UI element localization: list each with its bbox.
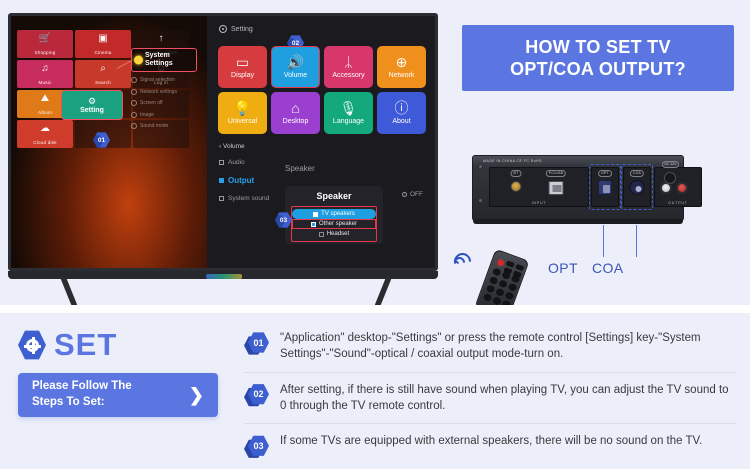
system-settings-title-line2: Settings [145,60,193,68]
antenna-port[interactable] [511,181,522,192]
page-title-line2: OPT/COA OUTPUT? [510,58,686,81]
step-row: 02 After setting, if there is still have… [244,373,736,425]
opt-port-highlight [589,164,621,210]
settings-card-label: Language [333,118,364,125]
app-tile-label: Cinema [75,50,131,58]
menu-item-signal-selection[interactable]: Signal selection [131,77,201,83]
film-icon: ▣ [98,34,107,44]
shopping-cart-icon: 🛒 [39,34,51,44]
tv-screen: 🛒 Shopping ▣ Cinema ↑ System update [11,16,435,268]
settings-card-about[interactable]: ⓘ About [377,92,426,134]
bottom-section: SET Please Follow The Steps To Set: ❯ 01… [0,313,750,469]
speaker-option-label: TV speakers [321,211,355,217]
menu-item-label: Screen off [140,100,163,106]
tv-settings-screen: Setting 02 ▭ Display 🔊 Volume [207,16,435,268]
settings-card-label: Volume [284,72,307,79]
breadcrumb-volume: ‹ Volume [219,143,245,150]
dc-power-label: DC 12V [662,161,679,168]
bluetooth-icon: ᛦ [344,55,352,69]
dc-power-port[interactable] [664,172,676,184]
coa-callout-line [636,225,637,257]
right-panel: HOW TO SET TV OPT/COA OUTPUT? MADE IN CH… [448,13,744,303]
speaker-option-label: Headset [327,231,349,237]
screw-icon [478,164,483,169]
setting-tile-highlight[interactable]: ⚙ Setting [61,90,123,120]
home-icon: ⌂ [291,101,299,115]
music-note-icon: ♫ [41,64,49,74]
app-tile-label: Music [17,80,73,88]
page-title-line1: HOW TO SET TV [525,36,671,59]
menu-item-label: Sound mode [140,123,168,129]
audio-icon [219,160,224,165]
speaker-option-label: Other speaker [319,221,357,227]
step-badge-02: 02 [244,384,270,408]
system-settings-menu: System Settings Signal selection [131,48,201,135]
steps-list: 01 "Application" desktop-"Settings" or p… [244,321,736,468]
settings-card-label: Display [231,72,254,79]
settings-card-language[interactable]: 🎙 Language [324,92,373,134]
side-item-system-sound[interactable]: System sound [219,195,269,202]
tv-leg-right [374,277,392,307]
step-text: After setting, if there is still have so… [280,382,736,415]
settings-card-label: Accessory [332,72,364,79]
settings-card-label: About [392,118,410,125]
monitor-icon: ▭ [236,55,249,69]
step-text: If some TVs are equipped with external s… [280,433,736,449]
speaker-option-tv-speakers[interactable]: TV speakers [292,209,376,219]
settings-card-volume[interactable]: 🔊 Volume [271,46,320,88]
tv-illustration: 🛒 Shopping ▣ Cinema ↑ System update [8,13,438,303]
side-item-audio[interactable]: Audio [219,159,269,166]
step-row: 01 "Application" desktop-"Settings" or p… [244,321,736,373]
speaker-section-label: Speaker [285,164,315,173]
menu-item-sound-mode[interactable]: Sound mode [131,123,201,129]
menu-item-label: Signal selection [140,77,175,83]
power-button-icon [496,258,505,267]
system-settings-highlight[interactable]: System Settings [131,48,197,72]
photo-icon: ⛰ [41,94,49,104]
coa-port-highlight [621,164,653,210]
system-settings-list: Signal selection Network settings Screen… [131,77,201,129]
follow-button-line2: Steps To Set: [32,395,132,411]
signal-icon [131,77,137,83]
side-item-label: System sound [228,195,269,202]
network-icon [131,89,137,95]
off-toggle-label: OFF [410,191,423,198]
opt-callout-line [603,225,604,257]
settings-card-grid: ▭ Display 🔊 Volume ᛦ Accessory ⊕ [218,46,426,134]
gear-icon [18,330,46,360]
app-tile-label: Search [75,80,131,88]
menu-item-label: Image [140,112,154,118]
app-tile-label: Shopping [17,50,73,58]
side-item-output[interactable]: Output [219,176,269,185]
settings-header-label: Setting [231,26,253,33]
top-section: 🛒 Shopping ▣ Cinema ↑ System update [0,0,750,305]
port-label-bt: BT [511,170,522,177]
follow-steps-button[interactable]: Please Follow The Steps To Set: ❯ [18,373,218,417]
system-settings-title-line1: System [145,52,193,60]
checkbox-icon [319,232,324,237]
speaker-options-group: TV speakers Other speaker Headset [291,206,377,242]
settings-card-accessory[interactable]: ᛦ Accessory [324,46,373,88]
app-tile-shopping[interactable]: 🛒 Shopping [17,30,73,58]
step-row: 03 If some TVs are equipped with externa… [244,424,736,468]
speaker-dialog-title: Speaker [285,191,383,201]
port-callout-labels: OPT COA [548,260,624,276]
rca-port-right[interactable] [676,182,688,194]
toggle-circle-icon [402,192,407,197]
settings-card-network[interactable]: ⊕ Network [377,46,426,88]
settings-card-label: Universal [228,118,257,125]
set-title-row: SET [18,327,240,363]
menu-item-label: Network settings [140,89,177,95]
speaker-option-headset[interactable]: Headset [292,229,376,239]
set-title: SET [54,327,117,363]
input-port-group: BT PC/USB INPUT [489,167,589,207]
step-badge-03: 03 [244,435,270,459]
step-text: "Application" desktop-"Settings" or pres… [280,330,736,363]
gear-icon [134,56,143,65]
mic-icon: 🎙 [340,101,358,115]
checkbox-icon [313,212,318,217]
device-base [473,219,683,224]
app-tile-label: Cloud disk [17,140,73,148]
output-group-label: OUTPUT [668,201,688,205]
output-icon [219,178,224,183]
settings-card-label: Network [389,72,415,79]
bulb-icon: 💡 [234,101,251,115]
app-tile-music[interactable]: ♫ Music [17,60,73,88]
audio-converter-device: MADE IN CHINA CE FC RoHS BT PC/USB INPUT… [472,155,684,221]
usb-port[interactable] [549,181,564,195]
side-item-label: Audio [228,159,245,166]
speaker-option-other-speaker[interactable]: Other speaker [292,219,376,229]
speaker-dialog: Speaker TV speakers Other speaker [285,186,383,244]
screw-icon [478,198,483,203]
output-port-group: OUTPUT [654,167,702,207]
side-item-label: Output [228,176,254,185]
settings-card-desktop[interactable]: ⌂ Desktop [271,92,320,134]
settings-side-list: Audio Output System sound [219,159,269,212]
callout-label-coa: COA [592,260,624,276]
search-icon: ⌕ [100,64,106,74]
info-icon: ⓘ [395,101,409,115]
settings-card-label: Desktop [283,118,309,125]
set-block: SET Please Follow The Steps To Set: ❯ [18,327,240,417]
chevron-right-icon: ❯ [189,385,204,406]
settings-card-universal[interactable]: 💡 Universal [218,92,267,134]
checkbox-checked-icon [311,222,316,227]
section-divider [0,305,750,313]
tv-leg-left [60,277,78,307]
device-certification-text: MADE IN CHINA CE FC RoHS [483,159,542,163]
tv-body: 🛒 Shopping ▣ Cinema ↑ System update [8,13,438,271]
settings-card-display[interactable]: ▭ Display [218,46,267,88]
step-badge-01: 01 [244,332,270,356]
off-toggle[interactable]: OFF [402,191,423,198]
port-label-usb: PC/USB [546,170,566,177]
tv-logo [206,274,242,279]
tv-home-launcher: 🛒 Shopping ▣ Cinema ↑ System update [11,16,207,268]
app-tile-cinema[interactable]: ▣ Cinema [75,30,131,58]
follow-button-line1: Please Follow The [32,379,132,395]
update-icon: ↑ [159,34,164,44]
gear-icon: ⚙ [88,97,96,106]
sound-icon [131,123,137,129]
gear-icon [219,25,227,33]
cloud-icon: ☁ [40,124,50,134]
menu-item-image[interactable]: Image [131,112,201,118]
image-icon [131,112,137,118]
app-tile-cloud-disk[interactable]: ☁ Cloud disk [17,120,73,148]
input-group-label: INPUT [532,201,547,205]
menu-item-screen-off[interactable]: Screen off [131,100,201,106]
setting-tile-label: Setting [80,107,104,114]
speaker-icon: 🔊 [287,55,304,69]
menu-item-network-settings[interactable]: Network settings [131,89,201,95]
screen-icon [131,100,137,106]
globe-icon: ⊕ [396,55,408,69]
signal-waves-icon [454,249,476,269]
callout-label-opt: OPT [548,260,578,276]
breadcrumb-label: Volume [223,143,245,150]
system-sound-icon [219,196,224,201]
page-title: HOW TO SET TV OPT/COA OUTPUT? [462,25,734,91]
settings-header: Setting [219,25,253,33]
